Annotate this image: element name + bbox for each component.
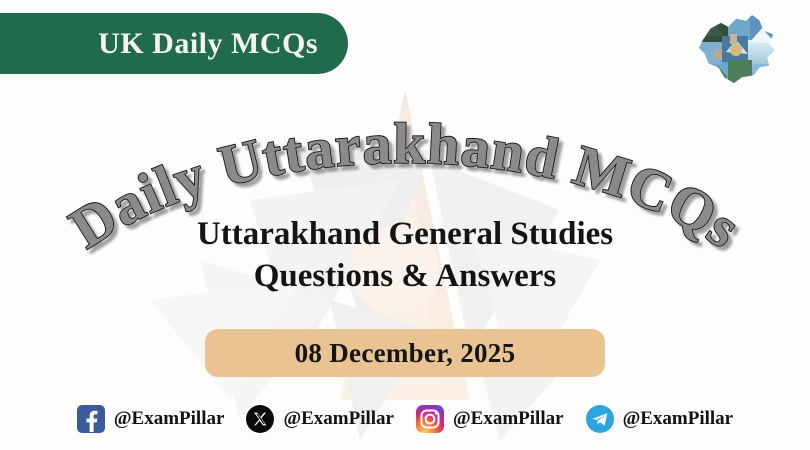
social-item-telegram[interactable]: @ExamPillar (586, 405, 734, 433)
headline-block: Uttarakhand General Studies Questions & … (0, 213, 810, 297)
ribbon-label: UK Daily MCQs (98, 27, 318, 61)
social-links-row: @ExamPillar @ExamPillar (0, 398, 810, 440)
instagram-icon[interactable] (416, 405, 444, 433)
social-handle-facebook: @ExamPillar (114, 408, 225, 430)
headline-line-1: Uttarakhand General Studies (0, 213, 810, 255)
date-badge: 08 December, 2025 (205, 329, 605, 377)
social-handle-telegram: @ExamPillar (623, 408, 734, 430)
header-ribbon: UK Daily MCQs (0, 13, 348, 74)
social-item-facebook[interactable]: @ExamPillar (77, 405, 225, 433)
social-item-instagram[interactable]: @ExamPillar (416, 405, 564, 433)
headline-line-2: Questions & Answers (0, 255, 810, 297)
x-twitter-icon[interactable] (246, 405, 274, 433)
social-item-x-twitter[interactable]: @ExamPillar (246, 405, 394, 433)
social-handle-instagram: @ExamPillar (453, 408, 564, 430)
telegram-icon[interactable] (586, 405, 614, 433)
uttarakhand-map-collage (690, 6, 782, 90)
facebook-icon[interactable] (77, 405, 105, 433)
poster-canvas: UK Daily MCQs (0, 0, 810, 450)
date-label: 08 December, 2025 (295, 338, 516, 369)
social-handle-x-twitter: @ExamPillar (283, 408, 394, 430)
